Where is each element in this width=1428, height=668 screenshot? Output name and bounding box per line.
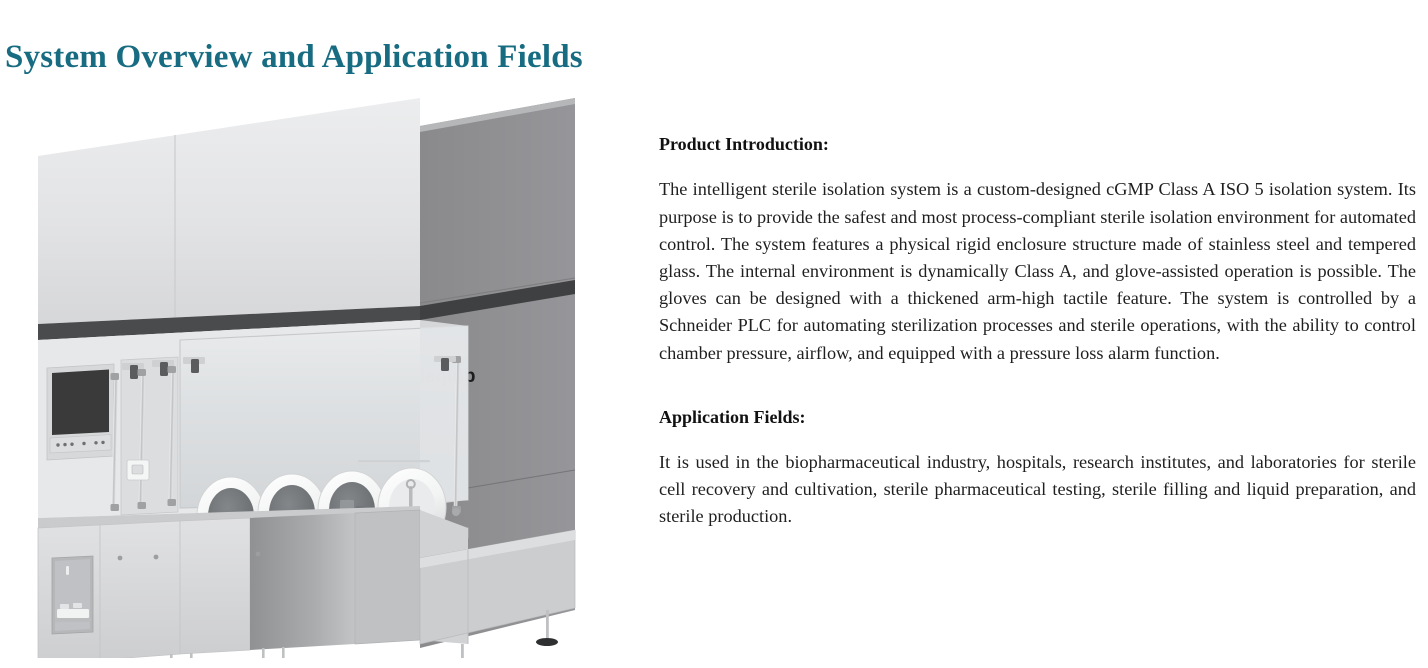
hmi-screen[interactable] (52, 370, 109, 436)
isolator-illustration: N Enoblequip (0, 88, 620, 658)
base-cabinet-center-2 (180, 518, 250, 654)
door-latch-box[interactable] (127, 460, 149, 480)
page-title: System Overview and Application Fields (5, 38, 583, 77)
application-fields-heading: Application Fields: (659, 405, 1416, 429)
door-hinge-3 (191, 359, 199, 373)
leveling-foot (273, 647, 293, 658)
text-column: Product Introduction: The intelligent st… (659, 132, 1416, 531)
tray-item (57, 609, 89, 618)
hmi-control-panel[interactable] (47, 364, 114, 460)
base-recess (250, 513, 355, 650)
application-fields-paragraph: It is used in the biopharmaceutical indu… (659, 449, 1416, 531)
base-cabinet-center-1 (100, 521, 180, 658)
glass-screenprint-text (358, 460, 430, 462)
door-hinge-2 (160, 362, 168, 376)
product-image-isolation-system: N Enoblequip (0, 88, 620, 658)
leveling-foot (450, 644, 474, 658)
product-introduction-paragraph: The intelligent sterile isolation system… (659, 176, 1416, 366)
door-hinge-1 (130, 365, 138, 379)
product-introduction-heading: Product Introduction: (659, 132, 1416, 156)
base-cabinet-center-3 (355, 510, 420, 644)
glass-screenprint-text-2 (358, 465, 413, 467)
